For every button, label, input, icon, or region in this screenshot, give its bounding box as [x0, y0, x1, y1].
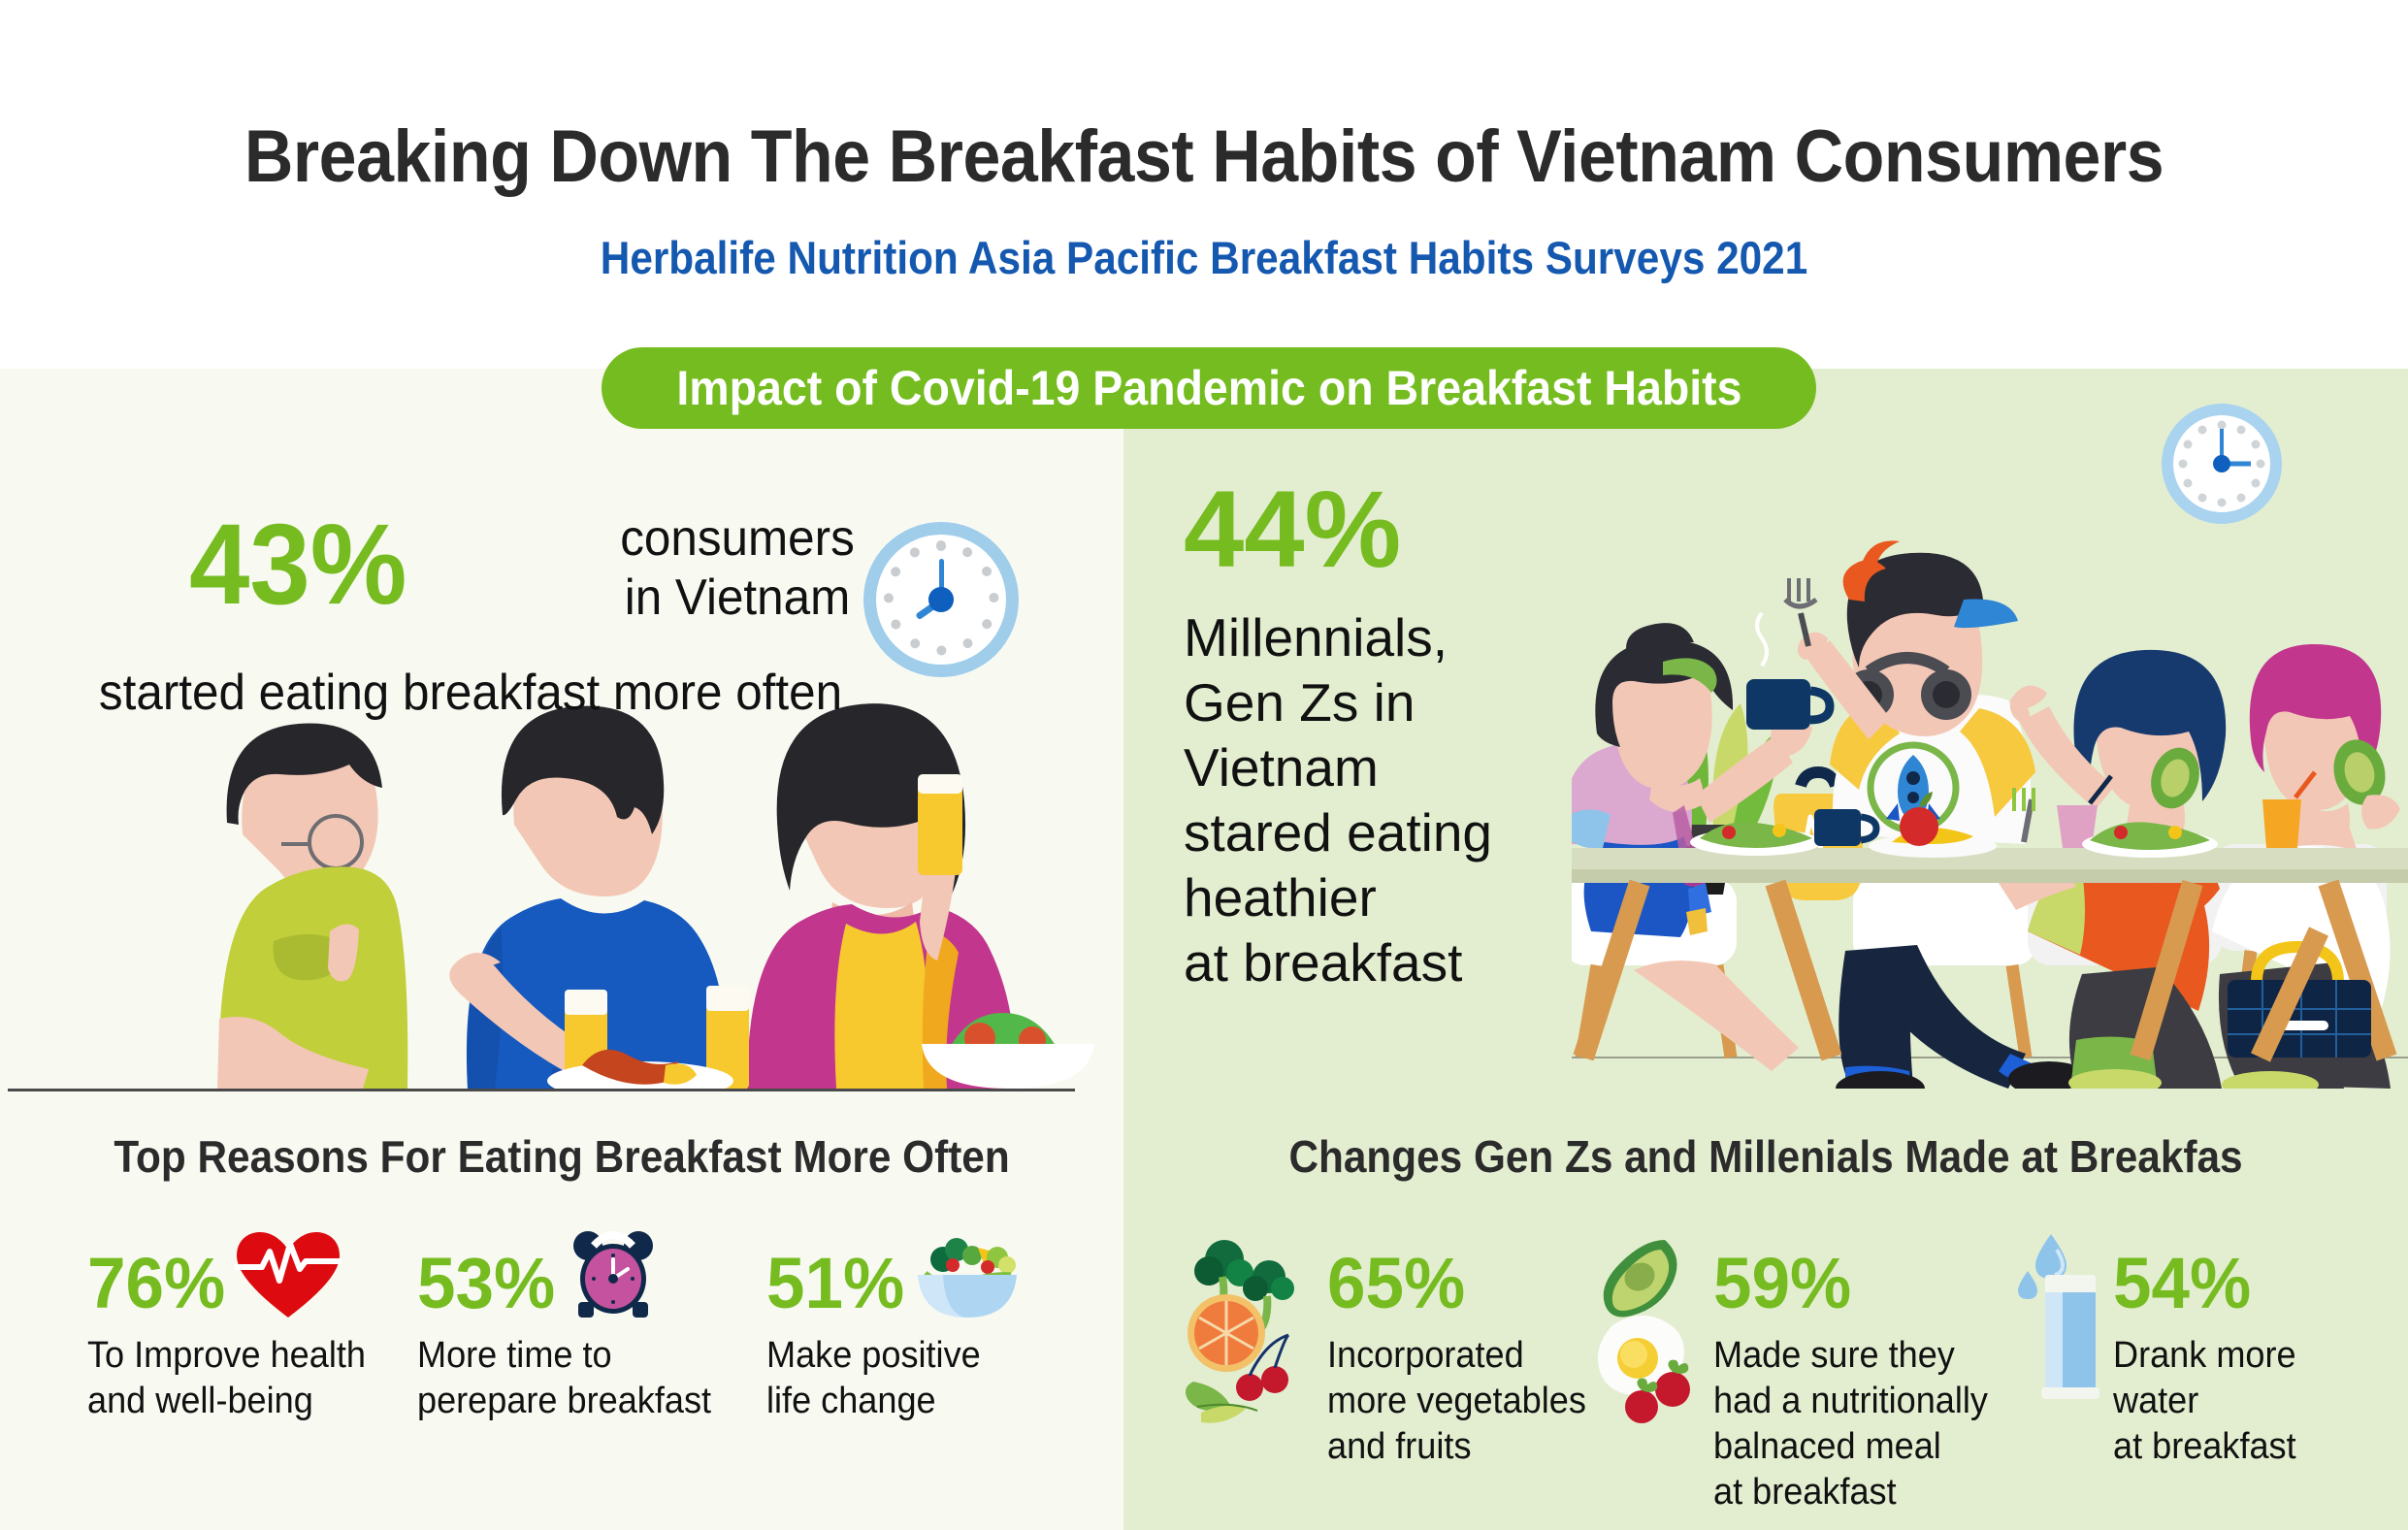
right-fact-1-label: Made sure they had a nutritionally balna…: [1713, 1333, 1988, 1515]
wall-clock-illustration: [2162, 404, 2282, 524]
right-fact-1: 59% Made sure they had a nutritionally b…: [1591, 1232, 2018, 1515]
left-fact-1-percent: 53%: [417, 1248, 555, 1319]
right-fact-2-label: Drank more water at breakfast: [2113, 1333, 2382, 1470]
avocado-egg-tomato-icon: [1591, 1232, 1708, 1426]
right-fact-0: 65% Incorporated more vegetables and fru…: [1186, 1232, 1603, 1470]
header: Breaking Down The Breakfast Habits of Vi…: [0, 0, 2408, 369]
clock-pivot: [928, 587, 954, 612]
right-stat-line-3: heathier: [1184, 865, 1601, 930]
right-stat-line-2: stared eating: [1184, 800, 1601, 865]
left-fact-2: 51% Make positive life change: [766, 1242, 1116, 1424]
right-fact-0-label: Incorporated more vegetables and fruits: [1327, 1333, 1586, 1470]
water-glass-icon: [2008, 1232, 2105, 1416]
right-fact-2: 54% Drank more water at breakfast: [2008, 1232, 2396, 1470]
left-stat-line3: started eating breakfast more often: [65, 666, 876, 721]
vegetables-and-fruits-icon: [1186, 1232, 1321, 1426]
right-fact-0-percent: 65%: [1327, 1248, 1465, 1319]
left-fact-2-label: Make positive life change: [766, 1333, 1098, 1424]
salad-bowl-icon: [914, 1232, 1021, 1319]
four-young-people-at-breakfast-table-illustration: [1572, 388, 2408, 1089]
page-title: Breaking Down The Breakfast Habits of Vi…: [96, 114, 2311, 199]
right-stat-line-1: Gen Zs in Vietnam: [1184, 670, 1601, 800]
covid-impact-banner-label: Impact of Covid-19 Pandemic on Breakfast…: [676, 360, 1741, 416]
left-section-heading: Top Reasons For Eating Breakfast More Of…: [45, 1130, 1078, 1183]
left-stat-percent: 43%: [189, 507, 407, 622]
right-stat-lines: Millennials, Gen Zs in Vietnam stared ea…: [1184, 605, 1601, 996]
covid-impact-banner: Impact of Covid-19 Pandemic on Breakfast…: [602, 347, 1816, 429]
left-stat-line2-text: in Vietnam: [585, 569, 890, 628]
left-stat-line1: consumers in Vietnam: [585, 509, 890, 629]
left-fact-0-percent: 76%: [87, 1248, 225, 1319]
right-stat-line-4: at breakfast: [1184, 930, 1601, 995]
left-divider: [8, 1089, 1075, 1091]
right-top-stat: 44% Millennials, Gen Zs in Vietnam stare…: [1184, 475, 1601, 996]
heart-pulse-icon: [235, 1230, 342, 1319]
alarm-clock-icon: [565, 1226, 662, 1319]
left-fact-1-label: More time to perepare breakfast: [417, 1333, 786, 1424]
right-fact-2-percent: 54%: [2113, 1248, 2251, 1319]
left-stat-line1-text: consumers: [585, 509, 890, 569]
right-fact-1-percent: 59%: [1713, 1248, 1851, 1319]
right-stat-line-0: Millennials,: [1184, 605, 1601, 670]
right-section-heading: Changes Gen Zs and Millenials Made at Br…: [1175, 1130, 2357, 1183]
infographic-root: Breaking Down The Breakfast Habits of Vi…: [0, 0, 2408, 1530]
left-fact-0-label: To Improve health and well-being: [87, 1333, 438, 1424]
right-stat-percent: 44%: [1184, 475, 1601, 584]
left-fact-0: 76% To Improve health and well-being: [87, 1242, 456, 1424]
left-fact-2-percent: 51%: [766, 1248, 904, 1319]
page-subtitle: Herbalife Nutrition Asia Pacific Breakfa…: [120, 231, 2288, 284]
three-people-eating-breakfast-illustration: [126, 699, 1106, 1089]
left-fact-1: 53% M: [417, 1242, 805, 1424]
